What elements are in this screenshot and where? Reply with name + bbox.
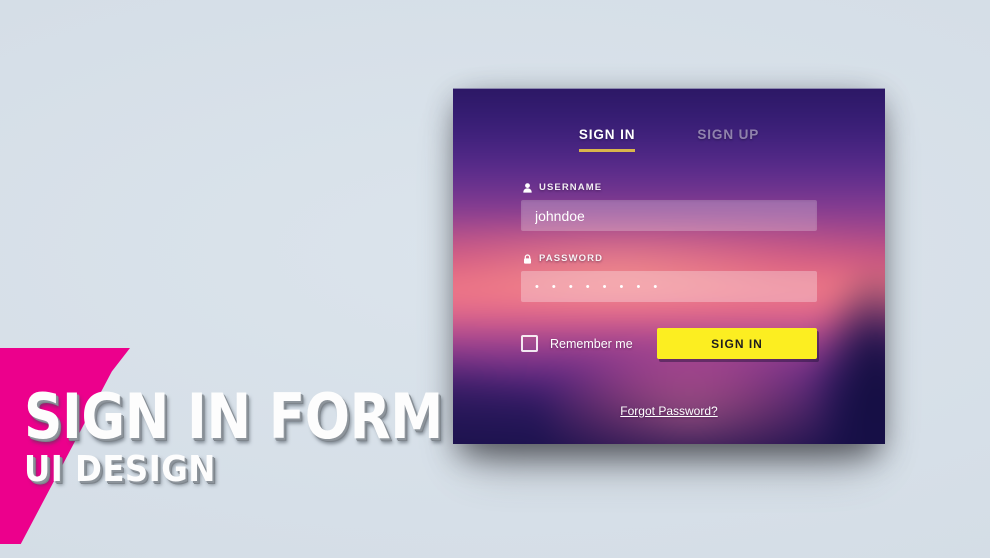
username-input[interactable] (521, 200, 817, 231)
username-label-row: USERNAME (521, 182, 817, 193)
username-field-group: USERNAME (521, 182, 817, 231)
auth-tabs: SIGN IN SIGN UP (521, 89, 817, 152)
password-label-row: PASSWORD (521, 253, 817, 264)
password-field-group: PASSWORD • • • • • • • • (521, 253, 817, 302)
remember-me-checkbox[interactable] (521, 335, 538, 352)
username-label: USERNAME (539, 182, 602, 193)
tab-sign-up-label: SIGN UP (697, 127, 759, 142)
sign-in-submit-button[interactable]: SIGN IN (657, 328, 817, 359)
tab-sign-up[interactable]: SIGN UP (697, 127, 759, 152)
forgot-password-row: Forgot Password? (453, 402, 885, 420)
lock-icon (523, 254, 532, 264)
form-actions-row: Remember me SIGN IN (521, 328, 817, 359)
card-content: SIGN IN SIGN UP USERNAME (453, 89, 885, 444)
title-overlay: SIGN IN FORM UI DESIGN (24, 388, 444, 488)
password-input[interactable]: • • • • • • • • (521, 271, 817, 302)
password-label: PASSWORD (539, 253, 603, 264)
remember-me-label: Remember me (550, 337, 633, 351)
remember-me-control[interactable]: Remember me (521, 335, 633, 352)
tab-sign-in[interactable]: SIGN IN (579, 127, 636, 152)
tab-sign-in-label: SIGN IN (579, 127, 636, 142)
sign-in-card: SIGN IN SIGN UP USERNAME (453, 88, 885, 444)
page-subtitle: UI DESIGN (24, 452, 402, 488)
forgot-password-link[interactable]: Forgot Password? (620, 404, 717, 418)
card-surface: SIGN IN SIGN UP USERNAME (453, 88, 885, 444)
page-title: SIGN IN FORM (24, 388, 385, 446)
user-icon (523, 183, 532, 193)
